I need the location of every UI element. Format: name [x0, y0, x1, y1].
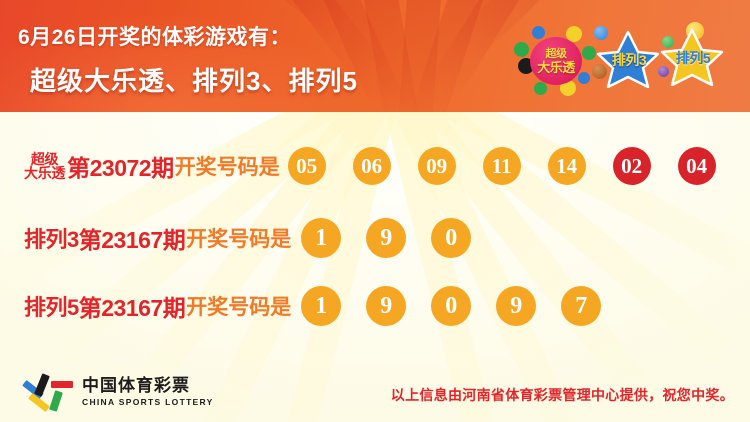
poster-footer: 中国体育彩票 CHINA SPORTS LOTTERY 以上信息由河南省体育彩票… — [0, 364, 750, 422]
logo-english-name: CHINA SPORTS LOTTERY — [82, 397, 214, 407]
result-row: 排列3 第23167期 开奖号码是 1 9 0 — [0, 208, 750, 268]
lottery-ball: 06 — [353, 147, 391, 185]
issue-number: 第23072期 — [67, 149, 173, 183]
lottery-ball: 9 — [366, 286, 406, 326]
badge-dot-blue-right — [578, 72, 590, 84]
lottery-ball: 0 — [431, 218, 471, 258]
logo-wordmark: 中国体育彩票 CHINA SPORTS LOTTERY — [82, 377, 214, 408]
game-badges: 超级 大乐透 排列3 排列5 — [504, 12, 744, 104]
lottery-ball: 04 — [678, 147, 716, 185]
lottery-result-poster: 6月26日开奖的体彩游戏有： 超级大乐透、排列3、排列5 超级 大乐透 — [0, 0, 750, 422]
lottery-logo-icon — [22, 372, 76, 412]
result-row: 超级 大乐透 第23072期 开奖号码是 05 06 09 11 14 02 0… — [0, 136, 750, 196]
issue-number: 第23167期 — [79, 221, 185, 255]
logo-chinese-name: 中国体育彩票 — [82, 377, 214, 396]
number-balls: 1 9 0 — [301, 218, 496, 258]
lottery-ball: 1 — [301, 286, 341, 326]
lottery-ball: 14 — [548, 147, 586, 185]
result-row: 排列5 第23167期 开奖号码是 1 9 0 9 7 — [0, 276, 750, 336]
headline-secondary: 超级大乐透、排列3、排列5 — [30, 61, 358, 98]
badge-dot-green-bottom — [534, 82, 547, 95]
headline-primary: 6月26日开奖的体彩游戏有： — [18, 21, 291, 51]
game-name: 排列5 — [24, 290, 79, 322]
game-name: 排列3 — [24, 222, 79, 254]
badge-super-lotto-line1: 超级 — [546, 49, 567, 60]
lottery-ball: 9 — [496, 286, 536, 326]
lottery-ball: 1 — [301, 218, 341, 258]
number-balls: 05 06 09 11 14 02 04 — [288, 147, 716, 185]
badge-super-lotto-line2: 大乐透 — [537, 61, 575, 74]
number-balls: 1 9 0 9 7 — [301, 286, 626, 326]
logo-stroke-green — [49, 390, 63, 411]
lottery-ball: 11 — [483, 147, 521, 185]
logo-stroke-red — [51, 381, 73, 388]
lottery-ball: 0 — [431, 286, 471, 326]
result-label: 排列3 第23167期 开奖号码是 — [24, 221, 291, 255]
issue-number: 第23167期 — [79, 289, 185, 323]
poster-header: 6月26日开奖的体彩游戏有： 超级大乐透、排列3、排列5 超级 大乐透 — [0, 0, 750, 112]
badge-dot-blue — [532, 26, 545, 39]
result-label: 超级 大乐透 第23072期 开奖号码是 — [24, 149, 280, 183]
footer-disclaimer: 以上信息由河南省体育彩票管理中心提供，祝您中奖。 — [391, 385, 734, 405]
lottery-ball: 09 — [418, 147, 456, 185]
result-suffix: 开奖号码是 — [175, 151, 280, 181]
lottery-ball: 7 — [561, 286, 601, 326]
game-name-line1: 超级 — [31, 152, 58, 166]
badge-super-lotto-core: 超级 大乐透 — [530, 37, 582, 85]
badge-super-lotto[interactable]: 超级 大乐透 — [514, 26, 598, 96]
logo-stroke-black — [34, 373, 50, 396]
result-suffix: 开奖号码是 — [186, 223, 291, 253]
lottery-ball: 05 — [288, 147, 326, 185]
badge-pailie3-label: 排列3 — [592, 50, 666, 70]
badge-pailie5-label: 排列5 — [656, 48, 730, 68]
badge-pailie3[interactable]: 排列3 — [592, 24, 666, 92]
badge-pailie5[interactable]: 排列5 — [656, 22, 730, 90]
result-label: 排列5 第23167期 开奖号码是 — [24, 289, 291, 323]
lottery-ball: 9 — [366, 218, 406, 258]
china-sports-lottery-logo: 中国体育彩票 CHINA SPORTS LOTTERY — [22, 372, 214, 412]
lottery-ball: 02 — [613, 147, 651, 185]
result-suffix: 开奖号码是 — [186, 291, 291, 321]
result-rows: 超级 大乐透 第23072期 开奖号码是 05 06 09 11 14 02 0… — [0, 112, 750, 352]
game-name-line2: 大乐透 — [24, 166, 65, 180]
game-name-stacked: 超级 大乐透 — [24, 152, 65, 181]
badge-dot-green — [514, 42, 529, 57]
